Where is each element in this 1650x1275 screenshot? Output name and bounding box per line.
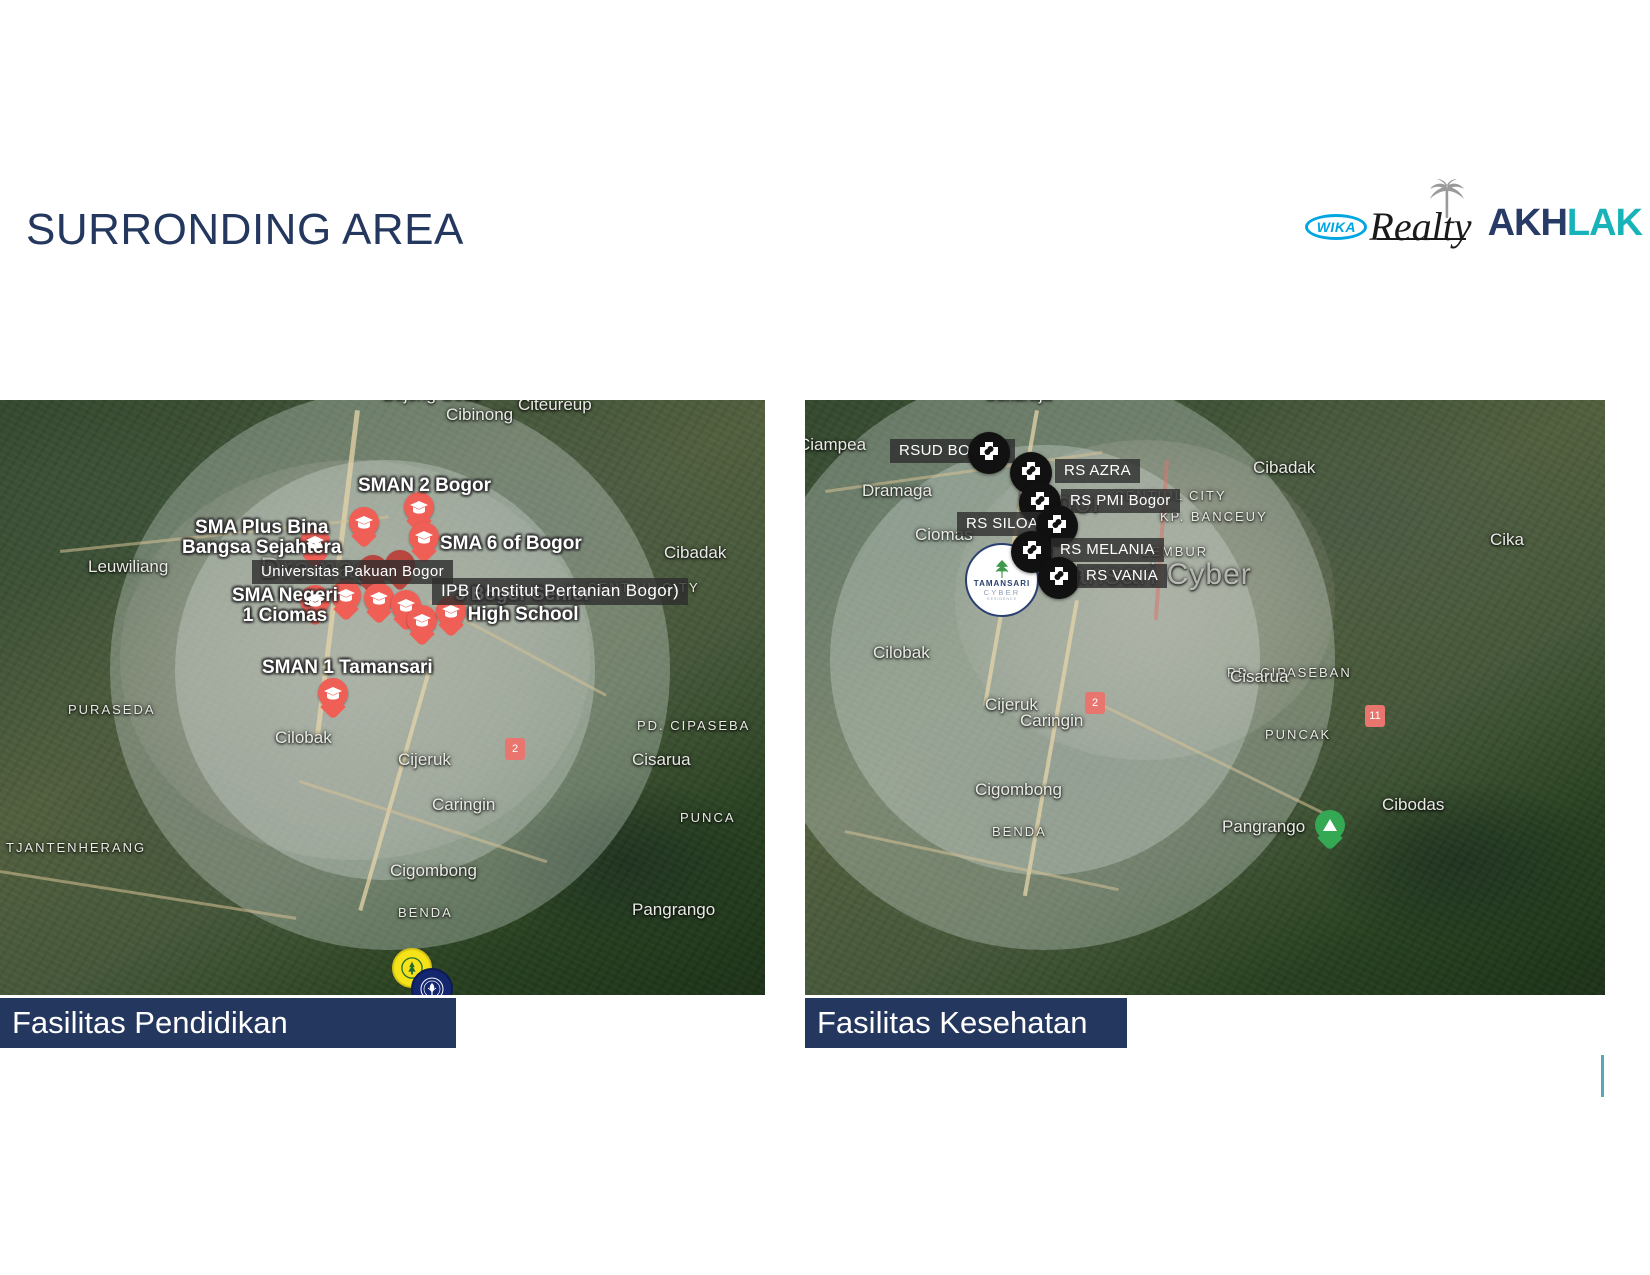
mountain-icon [1322,818,1338,832]
hospital-marker[interactable] [1038,557,1080,599]
hospital-cross-icon [1046,565,1072,591]
graduation-cap-icon [369,591,389,605]
graduation-cap-icon [396,598,416,612]
akhlak-teal-text: LAK [1567,202,1642,244]
school-pin-marker[interactable] [331,580,361,620]
page-title: SURRONDING AREA [26,205,464,255]
tree-icon [992,560,1012,578]
map-education[interactable]: Kemang Bojong Gede Citeureup Cibinong Le… [0,400,765,995]
route-shield: 2 [505,738,525,760]
akhlak-dark-text: AKH [1488,202,1567,244]
hospital-marker[interactable] [968,432,1010,474]
school-pin-marker[interactable] [300,585,330,625]
graduation-cap-icon [409,500,429,514]
route-shield: 2 [1085,692,1105,714]
map-health[interactable]: Sukaraja Ciampea Cibadak Dramaga SENTIUL… [805,400,1605,995]
caption-health: Fasilitas Kesehatan [805,998,1127,1048]
graduation-cap-icon [354,515,374,529]
graduation-cap-icon [305,535,325,549]
hospital-cross-icon [1019,539,1045,565]
akhlak-logo: AKHLAK [1488,204,1642,242]
graduation-cap-icon [412,613,432,627]
school-pin-marker[interactable] [318,678,348,718]
hospital-cross-icon [1044,513,1070,539]
palm-tree-icon [1424,178,1470,218]
hospital-label-rs-azra[interactable]: RS AZRA [1055,459,1140,483]
poi-chip-ipb[interactable]: IPB ( Institut Pertanian Bogor) [432,578,688,605]
brand-logo-group: WIKA Realty AKHLAK [1305,182,1642,246]
school-pin-marker[interactable] [349,507,379,547]
mountain-marker[interactable] [1315,810,1345,848]
hospital-label-rs-vania[interactable]: RS VANIA [1077,564,1167,588]
wika-realty-logo: WIKA Realty [1305,184,1471,246]
route-shield: 11 [1365,705,1385,727]
wika-badge: WIKA [1305,214,1367,240]
ipb-crest-icon [420,977,444,995]
hospital-label-rs-pmi-bogor[interactable]: RS PMI Bogor [1061,489,1180,513]
accent-rule [1601,1055,1604,1097]
tamansari-brand-sub: CYBER [984,588,1021,597]
graduation-cap-icon [441,604,461,618]
tamansari-brand-name: TAMANSARI [974,579,1030,588]
caption-education: Fasilitas Pendidikan [0,998,456,1048]
tamansari-brand-sub2: RESIDENCE [987,597,1017,601]
poi-chip-universitas-pakuan[interactable]: Universitas Pakuan Bogor [252,560,453,584]
graduation-cap-icon [414,530,434,544]
school-pin-marker[interactable] [364,583,394,623]
graduation-cap-icon [336,588,356,602]
graduation-cap-icon [323,686,343,700]
graduation-cap-icon [305,593,325,607]
hospital-cross-icon [976,440,1002,466]
